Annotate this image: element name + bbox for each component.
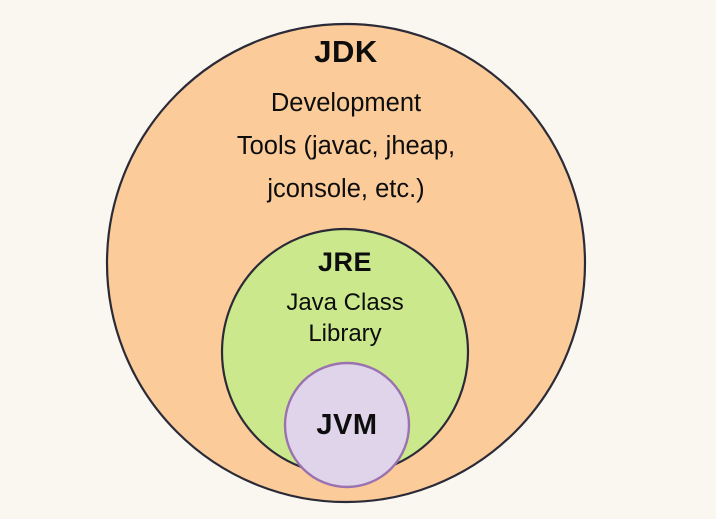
jre-title: JRE xyxy=(286,248,403,276)
jdk-description-line: Development xyxy=(237,82,455,125)
jre-description: Java Class Library xyxy=(286,287,403,349)
jdk-label-group: JDK Development Tools (javac, jheap, jco… xyxy=(237,36,455,211)
jre-description-line: Java Class xyxy=(286,287,403,318)
diagram-canvas: JDK Development Tools (javac, jheap, jco… xyxy=(0,0,716,519)
jdk-description-line: Tools (javac, jheap, xyxy=(237,125,455,168)
jdk-description: Development Tools (javac, jheap, jconsol… xyxy=(237,82,455,211)
jre-label-group: JRE Java Class Library xyxy=(286,248,403,349)
jvm-title: JVM xyxy=(316,410,377,440)
jdk-description-line: jconsole, etc.) xyxy=(237,168,455,211)
jre-description-line: Library xyxy=(286,318,403,349)
jdk-title: JDK xyxy=(237,36,455,69)
jvm-label-group: JVM xyxy=(316,410,377,440)
